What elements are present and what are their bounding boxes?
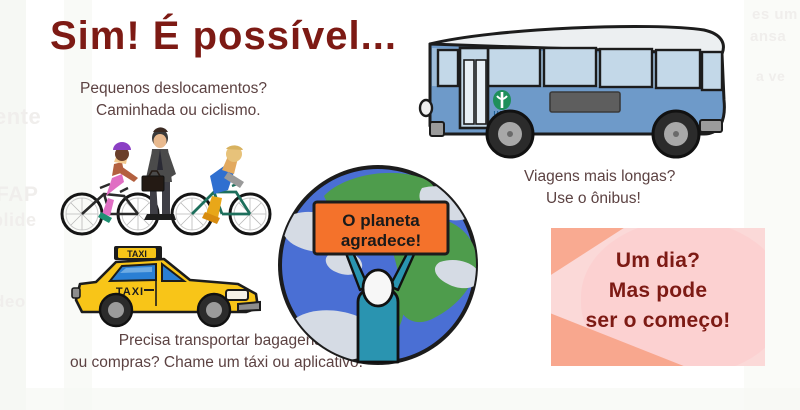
globe-sign-line1: O planeta	[342, 211, 420, 230]
promo-box: Um dia? Mas pode ser o começo!	[551, 228, 765, 366]
promo-line-1: Um dia?	[551, 246, 765, 276]
caption-bus-line2: Use o ônibus!	[524, 188, 675, 210]
caption-walking: Pequenos deslocamentos? Caminhada ou cic…	[80, 78, 267, 123]
pedestrian-icon	[142, 127, 176, 220]
globe-illustration: O planeta agradece!	[272, 158, 484, 372]
taxi-illustration: TAXI TAXI	[60, 238, 280, 330]
caption-bus: Viagens mais longas? Use o ônibus!	[524, 166, 675, 211]
bus-mirror	[420, 100, 432, 116]
slide-headline: Sim! É possível...	[50, 14, 397, 59]
globe-sign-line2: agradece!	[341, 231, 421, 250]
bus-destination-panel	[550, 92, 620, 112]
taxi-roof-label: TAXI	[127, 249, 147, 259]
caption-bus-line1: Viagens mais longas?	[524, 168, 675, 185]
slide-canvas: ente FAP plide deo es um ansa a ve Sim! …	[0, 0, 800, 410]
ghost-text-left-4: deo	[0, 292, 26, 312]
caption-walking-line1: Pequenos deslocamentos?	[80, 80, 267, 97]
cyclist-right-icon	[172, 145, 270, 234]
ghost-text-left-1: ente	[0, 104, 41, 130]
ghost-text-right-3: a ve	[756, 68, 785, 84]
cyclists-illustration	[52, 122, 292, 240]
bus-door	[460, 48, 488, 128]
ghost-text-right-1: es um	[752, 6, 798, 23]
promo-box-text: Um dia? Mas pode ser o começo!	[551, 246, 765, 335]
left-edge-band	[0, 0, 26, 410]
ghost-text-left-2: FAP	[0, 183, 38, 207]
ghost-text-right-2: ansa	[750, 28, 786, 45]
caption-walking-line2: Caminhada ou ciclismo.	[80, 100, 267, 122]
promo-line-2: Mas pode	[551, 276, 765, 306]
taxi-roof-sign: TAXI	[114, 246, 162, 260]
promo-line-3: ser o começo!	[551, 306, 765, 336]
bottom-band	[0, 388, 800, 410]
ghost-text-left-3: plide	[0, 210, 37, 231]
bus-illustration: UEL	[404, 8, 744, 160]
globe-sign: O planeta agradece!	[314, 202, 448, 254]
